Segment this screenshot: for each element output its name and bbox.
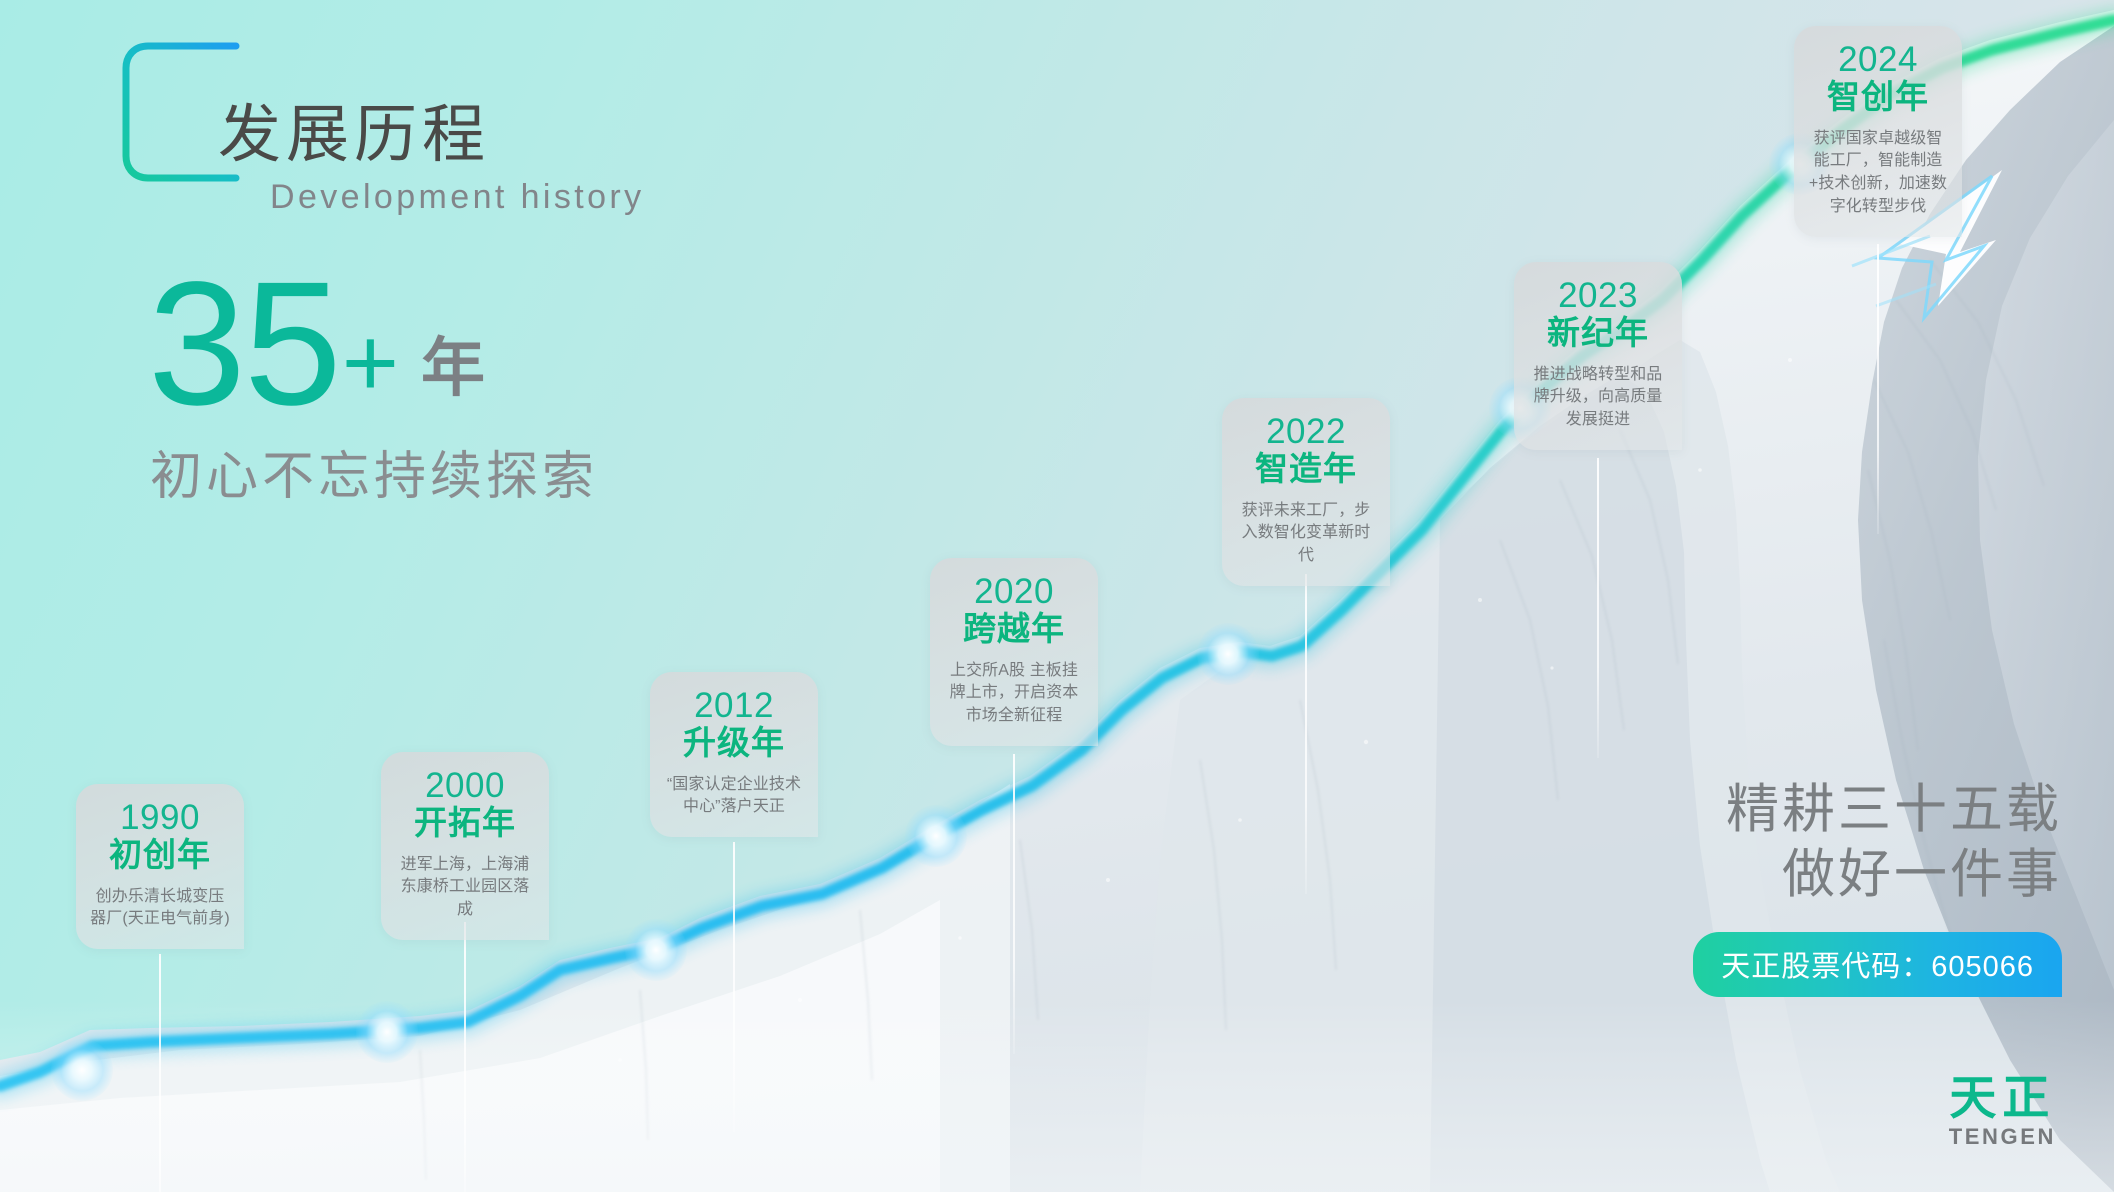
- milestone-card[interactable]: 2020 跨越年 上交所A股 主板挂牌上市，开启资本市场全新征程: [930, 558, 1098, 746]
- logo-wordmark: TENGEN: [1949, 1126, 2056, 1148]
- milestone-tag: 智造年: [1234, 450, 1378, 489]
- milestone-desc: 创办乐清长城变压器厂(天正电气前身): [88, 886, 232, 931]
- years-number-row: 35 + 年: [148, 272, 598, 416]
- logo-mark-cn: 天正: [1949, 1074, 2056, 1121]
- milestone-card[interactable]: 2000 开拓年 进军上海，上海浦东康桥工业园区落成: [381, 752, 549, 940]
- milestone-tag: 初创年: [88, 836, 232, 875]
- milestone-2024[interactable]: 2024 智创年 获评国家卓越级智能工厂，智能制造+技术创新，加速数字化转型步伐: [1794, 26, 1962, 237]
- milestone-desc: 推进战略转型和品牌升级，向高质量发展挺进: [1526, 364, 1670, 432]
- milestone-year: 2020: [942, 574, 1086, 611]
- milestone-2020[interactable]: 2020 跨越年 上交所A股 主板挂牌上市，开启资本市场全新征程: [930, 558, 1098, 746]
- milestone-desc: 获评未来工厂，步入数智化变革新时代: [1234, 500, 1378, 568]
- milestone-1990[interactable]: 1990 初创年 创办乐清长城变压器厂(天正电气前身): [76, 784, 244, 949]
- company-logo: 天正 TENGEN: [1949, 1074, 2056, 1148]
- milestone-stem: [1877, 244, 1879, 534]
- milestone-tag: 智创年: [1806, 78, 1950, 117]
- stock-code-badge: 天正股票代码：605066: [1693, 932, 2062, 997]
- milestone-card[interactable]: 2022 智造年 获评未来工厂，步入数智化变革新时代: [1222, 398, 1390, 586]
- milestone-year: 1990: [88, 800, 232, 837]
- milestone-stem: [159, 954, 161, 1192]
- slogan-line-1: 精耕三十五载: [1726, 778, 2062, 843]
- milestone-stem: [1305, 574, 1307, 894]
- milestone-desc: “国家认定企业技术中心”落户天正: [662, 774, 806, 819]
- page-subtitle: Development history: [270, 180, 645, 214]
- milestone-stem: [1013, 754, 1015, 1054]
- milestone-tag: 跨越年: [942, 610, 1086, 649]
- milestone-year: 2022: [1234, 414, 1378, 451]
- milestone-year: 2012: [662, 688, 806, 725]
- years-number: 35: [148, 272, 340, 416]
- milestone-2000[interactable]: 2000 开拓年 进军上海，上海浦东康桥工业园区落成: [381, 752, 549, 940]
- milestone-desc: 进军上海，上海浦东康桥工业园区落成: [393, 854, 537, 922]
- milestone-2012[interactable]: 2012 升级年 “国家认定企业技术中心”落户天正: [650, 672, 818, 837]
- milestone-stem: [1597, 458, 1599, 758]
- milestone-card[interactable]: 1990 初创年 创办乐清长城变压器厂(天正电气前身): [76, 784, 244, 949]
- milestone-tag: 新纪年: [1526, 314, 1670, 353]
- milestone-card[interactable]: 2023 新纪年 推进战略转型和品牌升级，向高质量发展挺进: [1514, 262, 1682, 450]
- milestone-2023[interactable]: 2023 新纪年 推进战略转型和品牌升级，向高质量发展挺进: [1514, 262, 1682, 450]
- milestone-year: 2024: [1806, 42, 1950, 79]
- slogan-line-2: 做好一件事: [1726, 843, 2062, 908]
- milestone-desc: 上交所A股 主板挂牌上市，开启资本市场全新征程: [942, 660, 1086, 728]
- page-title: 发展历程: [218, 104, 490, 167]
- years-tagline: 初心不忘持续探索: [150, 434, 598, 509]
- milestone-tag: 升级年: [662, 724, 806, 763]
- years-unit: 年: [421, 342, 485, 394]
- years-highlight: 35 + 年 初心不忘持续探索: [148, 272, 598, 509]
- milestone-year: 2000: [393, 768, 537, 805]
- milestone-stem: [464, 922, 466, 1192]
- milestone-stem: [733, 842, 735, 1132]
- development-history-poster: 发展历程 Development history 35 + 年 初心不忘持续探索…: [0, 0, 2114, 1192]
- milestone-tag: 开拓年: [393, 804, 537, 843]
- milestone-card[interactable]: 2024 智创年 获评国家卓越级智能工厂，智能制造+技术创新，加速数字化转型步伐: [1794, 26, 1962, 237]
- milestone-year: 2023: [1526, 278, 1670, 315]
- brand-slogan: 精耕三十五载 做好一件事: [1726, 778, 2062, 907]
- milestone-desc: 获评国家卓越级智能工厂，智能制造+技术创新，加速数字化转型步伐: [1806, 128, 1950, 219]
- page-header: 发展历程 Development history: [118, 30, 678, 200]
- milestone-card[interactable]: 2012 升级年 “国家认定企业技术中心”落户天正: [650, 672, 818, 837]
- milestone-2022[interactable]: 2022 智造年 获评未来工厂，步入数智化变革新时代: [1222, 398, 1390, 586]
- years-plus-sign: +: [342, 322, 399, 402]
